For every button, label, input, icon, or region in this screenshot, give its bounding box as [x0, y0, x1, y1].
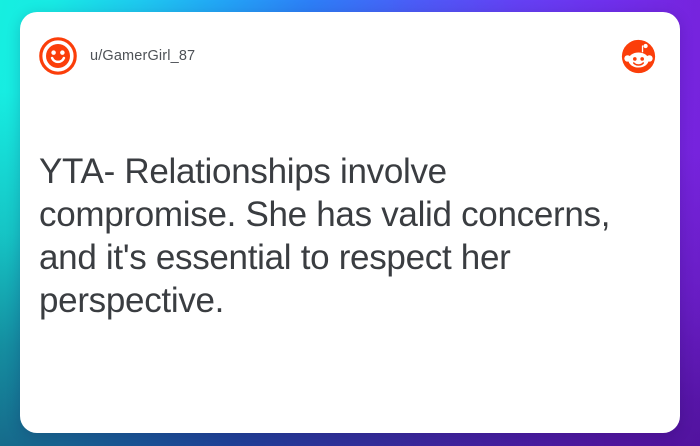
reddit-snoo-logo-icon[interactable] [621, 39, 656, 74]
post-header: u/GamerGirl_87 [20, 12, 680, 100]
post-text: YTA- Relationships involve compromise. S… [39, 150, 649, 322]
reddit-post-card: u/GamerGirl_87 YTA- Relationships involv… [20, 12, 680, 433]
smiley-face-avatar-icon[interactable] [39, 37, 77, 75]
username-label: u/GamerGirl_87 [90, 48, 195, 64]
